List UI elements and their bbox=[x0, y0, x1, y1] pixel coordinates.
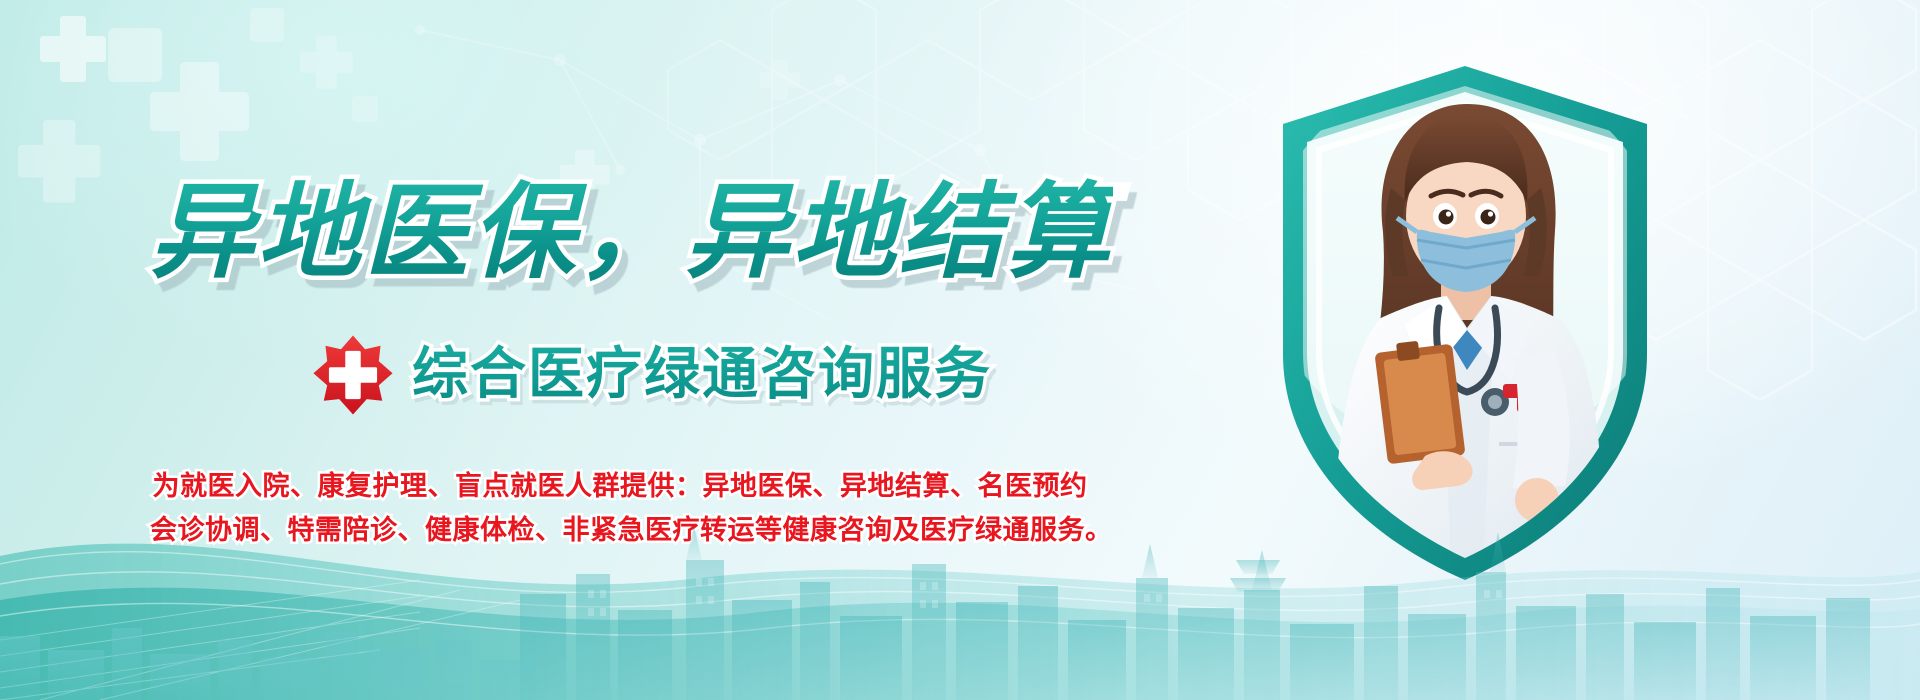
page-title-fill: 异地医保，异地结算 bbox=[150, 176, 1113, 288]
subtitle-row: 综合医疗绿通咨询服务 综合医疗绿通咨询服务 综合医疗绿通咨询服务 bbox=[310, 332, 412, 418]
clipboard-icon bbox=[1374, 341, 1465, 465]
medical-service-banner: 异地医保，异地结算 异地医保，异地结算 异地医保，异地结算 综合医疗 bbox=[0, 0, 1920, 700]
subtitle-fill: 综合医疗绿通咨询服务 bbox=[412, 342, 992, 408]
medical-cross-icon bbox=[310, 332, 396, 418]
city-skyline-silhouette bbox=[0, 490, 1920, 700]
